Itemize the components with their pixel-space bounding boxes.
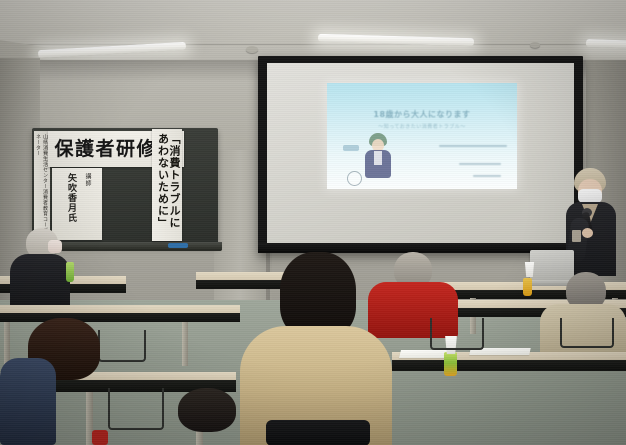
- seminar-room-photo: 山県消費生活センター消費者教育コーディネーター 保護者研修会 講師 矢吹香月氏 …: [0, 0, 626, 445]
- bottle-orange-right: [523, 278, 532, 296]
- chair-frame: [560, 318, 614, 348]
- attendee-jacket: [0, 358, 56, 445]
- desk-leg: [182, 322, 188, 366]
- attendee-bottom-left-navy: [0, 318, 116, 445]
- speaker-role-label: 講師: [83, 173, 92, 187]
- attendee-front-beige: [240, 252, 392, 445]
- smoke-detector-icon: [246, 46, 258, 53]
- slide-circle-icon: [347, 171, 362, 186]
- slide-text-line: [459, 163, 501, 165]
- projected-slide: 18歳から大人になります 〜知っておきたい消費者トラブル〜: [327, 83, 517, 189]
- bottle-green-center: [444, 352, 457, 376]
- chair-frame: [430, 318, 484, 350]
- slide-badge-shape: [343, 145, 359, 151]
- attendee-back-dark: [150, 388, 260, 445]
- face-mask-icon: [48, 240, 62, 253]
- poster-subtitle-vertical: 「消費トラブルにあわないために」: [152, 129, 182, 241]
- projection-screen-surface: 18歳から大人になります 〜知っておきたい消費者トラブル〜: [267, 63, 574, 243]
- slide-text-line: [473, 175, 501, 177]
- speaker-name-label: 矢吹香月氏: [65, 173, 78, 223]
- desk-edge: [392, 360, 626, 371]
- smoke-detector-icon: [530, 42, 540, 48]
- slide-subtitle: 〜知っておきたい消費者トラブル〜: [327, 123, 517, 130]
- slide-figure-shirt: [374, 151, 382, 165]
- presenter-hand: [582, 228, 593, 238]
- slide-title: 18歳から大人になります: [327, 109, 517, 120]
- red-object: [92, 430, 108, 445]
- bottle-green-left: [66, 262, 74, 282]
- attendee-head: [178, 388, 236, 432]
- slide-text-line: [439, 145, 507, 147]
- projection-screen-frame: 18歳から大人になります 〜知っておきたい消費者トラブル〜: [258, 56, 583, 253]
- marker-pen: [168, 243, 188, 248]
- chair-back: [266, 420, 370, 445]
- slide-illustration-icon: [361, 133, 395, 179]
- face-mask-icon: [578, 189, 602, 203]
- presenter-name-badge: [572, 230, 581, 242]
